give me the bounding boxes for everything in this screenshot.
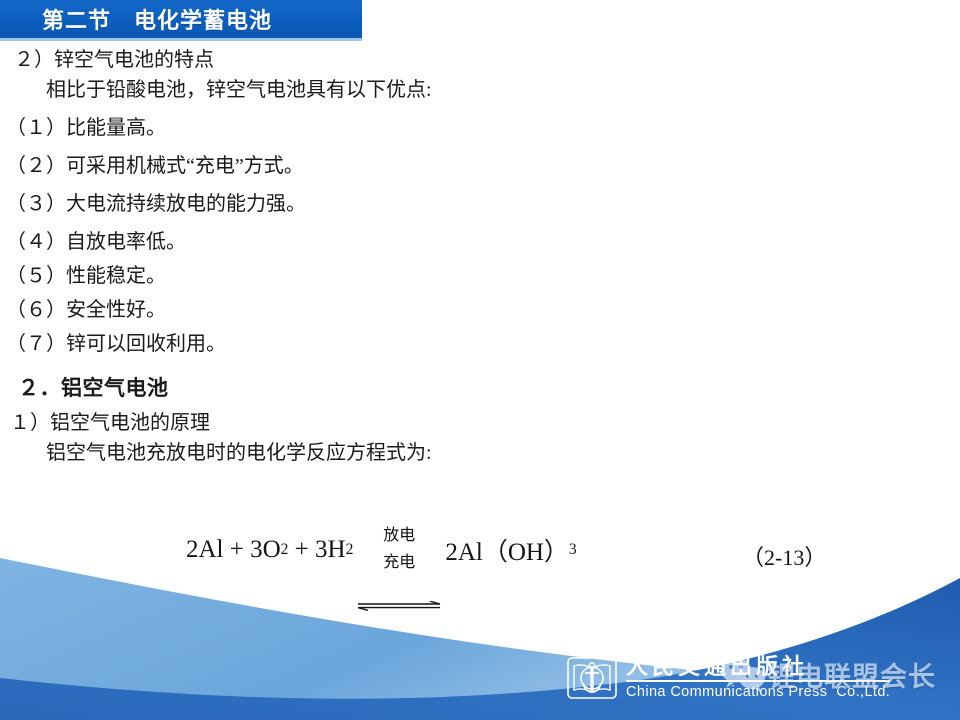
- principle-intro: 铝空气电池充放电时的电化学反应方程式为:: [46, 443, 960, 463]
- advantage-item-4: （４）自放电率低。: [6, 232, 960, 252]
- logo-divider: [626, 680, 890, 682]
- arrow-top-label: 放电: [383, 528, 415, 545]
- principle-heading: １）铝空气电池的原理: [10, 413, 960, 433]
- page-title: 第二节 电化学蓄电池: [42, 3, 272, 35]
- equation-left-terms: 2Al + 3O: [186, 536, 281, 564]
- section-heading-aluminium-air: ２．铝空气电池: [18, 378, 960, 399]
- reversible-reaction-arrow: 放电 充电: [356, 528, 442, 572]
- publisher-logo: 人民交通出版社 China Communications Press Co.,L…: [566, 652, 890, 704]
- equation-oh3-subscript: 3: [569, 541, 577, 559]
- publisher-name-en: China Communications Press Co.,Ltd.: [626, 685, 890, 700]
- slide-canvas: 第二节 电化学蓄电池 ２）锌空气电池的特点 相比于铅酸电池，锌空气电池具有以下优…: [0, 0, 960, 720]
- equation-h2-subscript: 2: [346, 541, 354, 559]
- section-header-banner: 第二节 电化学蓄电池: [0, 0, 362, 38]
- equation-row: 2Al + 3O2 + 3H2 放电 充电 2Al（OH）3 （2-13）: [0, 520, 960, 584]
- advantage-item-6: （６）安全性好。: [6, 300, 960, 320]
- advantage-item-5: （５）性能稳定。: [6, 266, 960, 286]
- zinc-air-heading: ２）锌空气电池的特点: [14, 50, 960, 70]
- header-underline-divider: [0, 38, 362, 41]
- equation-o2-subscript: 2: [281, 541, 289, 559]
- equation-right-term: 2Al（OH）: [445, 532, 569, 568]
- equation-mid-term: + 3H: [288, 536, 345, 564]
- equation-number: （2-13）: [742, 540, 826, 572]
- chemical-equation: 2Al + 3O2 + 3H2 放电 充电 2Al（OH）3: [186, 528, 577, 572]
- slide-content: ２）锌空气电池的特点 相比于铅酸电池，锌空气电池具有以下优点: （１）比能量高。…: [0, 44, 960, 463]
- publisher-name-cn: 人民交通出版社: [626, 656, 890, 678]
- advantage-item-3: （３）大电流持续放电的能力强。: [6, 194, 960, 214]
- double-harpoon-icon: [356, 545, 442, 555]
- advantage-item-1: （１）比能量高。: [6, 118, 960, 138]
- book-anchor-emblem-icon: [566, 652, 618, 704]
- publisher-logo-text: 人民交通出版社 China Communications Press Co.,L…: [626, 656, 890, 700]
- advantage-item-7: （７）锌可以回收利用。: [6, 334, 960, 354]
- advantage-item-2: （２）可采用机械式“充电”方式。: [6, 156, 960, 176]
- zinc-air-intro: 相比于铅酸电池，锌空气电池具有以下优点:: [46, 80, 960, 100]
